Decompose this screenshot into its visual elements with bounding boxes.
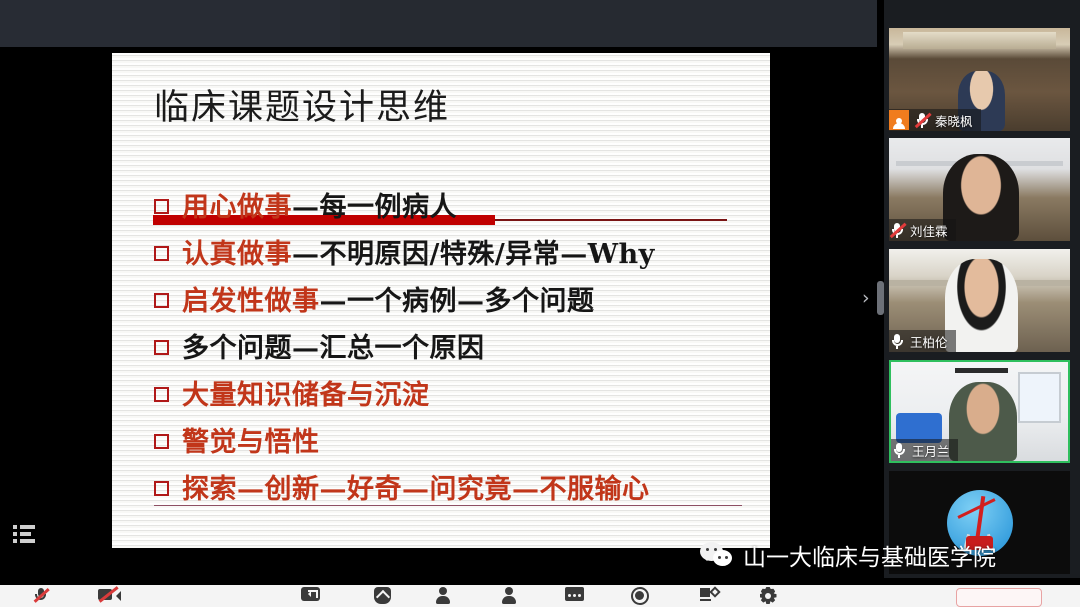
meeting-toolbar[interactable] (0, 585, 1080, 607)
slide-title: 临床课题设计思维 (154, 79, 450, 130)
mic-muted-icon (914, 111, 930, 129)
chevron-right-icon[interactable]: › (862, 289, 870, 308)
bullet-text: —不明原因/特殊/异常—Why (292, 232, 655, 271)
participant-tile[interactable]: 刘佳霖 (889, 138, 1070, 241)
mic-muted-icon[interactable] (18, 585, 62, 607)
slide-bullet-row: 认真做事—不明原因/特殊/异常—Why (154, 232, 754, 273)
slide-bullet-row: 警觉与悟性 (154, 420, 754, 461)
slide-bullet-row: 启发性做事—一个病例—多个问题 (154, 279, 754, 320)
mic-icon (889, 332, 905, 350)
participant-tile[interactable] (889, 471, 1070, 574)
panel-drag-handle[interactable] (877, 281, 884, 315)
bullet-text: 用心做事 (182, 185, 292, 224)
window-header-bar-right (340, 0, 877, 47)
participant-name-badge: 秦晓枫 (889, 109, 981, 131)
presentation-slide: 临床课题设计思维 用心做事—每一例病人认真做事—不明原因/特殊/异常—Why启发… (112, 53, 770, 548)
slide-bullet-list: 用心做事—每一例病人认真做事—不明原因/特殊/异常—Why启发性做事—一个病例—… (154, 185, 754, 514)
list-icon[interactable] (13, 525, 35, 543)
shared-screen-stage[interactable]: 临床课题设计思维 用心做事—每一例病人认真做事—不明原因/特殊/异常—Why启发… (0, 47, 877, 578)
record-icon[interactable] (618, 585, 662, 607)
bullet-checkbox-icon (154, 481, 169, 496)
bullet-text: —每一例病人 (292, 185, 457, 224)
leave-meeting-button[interactable] (956, 588, 1042, 607)
participant-name: 秦晓枫 (935, 111, 973, 130)
participant-name: 刘佳霖 (910, 221, 948, 240)
bullet-checkbox-icon (154, 293, 169, 308)
bullet-checkbox-icon (154, 340, 169, 355)
more-options-icon[interactable] (552, 585, 596, 607)
chat-icon[interactable] (288, 585, 332, 607)
participant-tile[interactable]: 秦晓枫 (889, 28, 1070, 131)
bullet-text: 大量知识储备与沉淀 (182, 373, 430, 412)
slide-bullet-row: 大量知识储备与沉淀 (154, 373, 754, 414)
share-screen-icon[interactable] (688, 585, 732, 607)
mic-icon (891, 441, 907, 459)
bullet-text: 警觉与悟性 (182, 420, 320, 459)
bullet-text: 启发性做事 (182, 279, 320, 318)
bullet-checkbox-icon (154, 199, 169, 214)
person-icon[interactable] (486, 585, 530, 607)
bullet-text: 认真做事 (182, 232, 292, 271)
crane-avatar-icon (947, 490, 1013, 556)
participants-icon[interactable] (420, 585, 464, 607)
participant-filmstrip[interactable]: 秦晓枫刘佳霖王柏伦王月兰 (884, 0, 1080, 578)
participant-name-badge: 王柏伦 (889, 330, 956, 352)
bullet-checkbox-icon (154, 246, 169, 261)
meeting-window: 临床课题设计思维 用心做事—每一例病人认真做事—不明原因/特殊/异常—Why启发… (0, 0, 1080, 607)
mic-muted-icon (889, 221, 905, 239)
participant-name: 王月兰 (912, 441, 950, 460)
participant-name: 王柏伦 (910, 332, 948, 351)
security-shield-icon[interactable] (360, 585, 404, 607)
bullet-text: 探索—创新—好奇—问究竟—不服输心 (182, 467, 650, 506)
settings-gear-icon[interactable] (746, 585, 790, 607)
bullet-checkbox-icon (154, 387, 169, 402)
avatar (889, 110, 909, 130)
camera-off-icon[interactable] (86, 585, 130, 607)
slide-bullet-row: 多个问题—汇总一个原因 (154, 326, 754, 367)
slide-footer-rule (154, 505, 742, 506)
participant-tile[interactable]: 王月兰 (889, 360, 1070, 463)
participant-name-badge: 王月兰 (891, 439, 958, 461)
participant-name-badge: 刘佳霖 (889, 219, 956, 241)
bullet-checkbox-icon (154, 434, 169, 449)
slide-bullet-row: 探索—创新—好奇—问究竟—不服输心 (154, 467, 754, 508)
bullet-text: 多个问题—汇总一个原因 (182, 326, 485, 365)
slide-bullet-row: 用心做事—每一例病人 (154, 185, 754, 226)
bullet-text: —一个病例—多个问题 (320, 279, 595, 318)
participant-tile[interactable]: 王柏伦 (889, 249, 1070, 352)
